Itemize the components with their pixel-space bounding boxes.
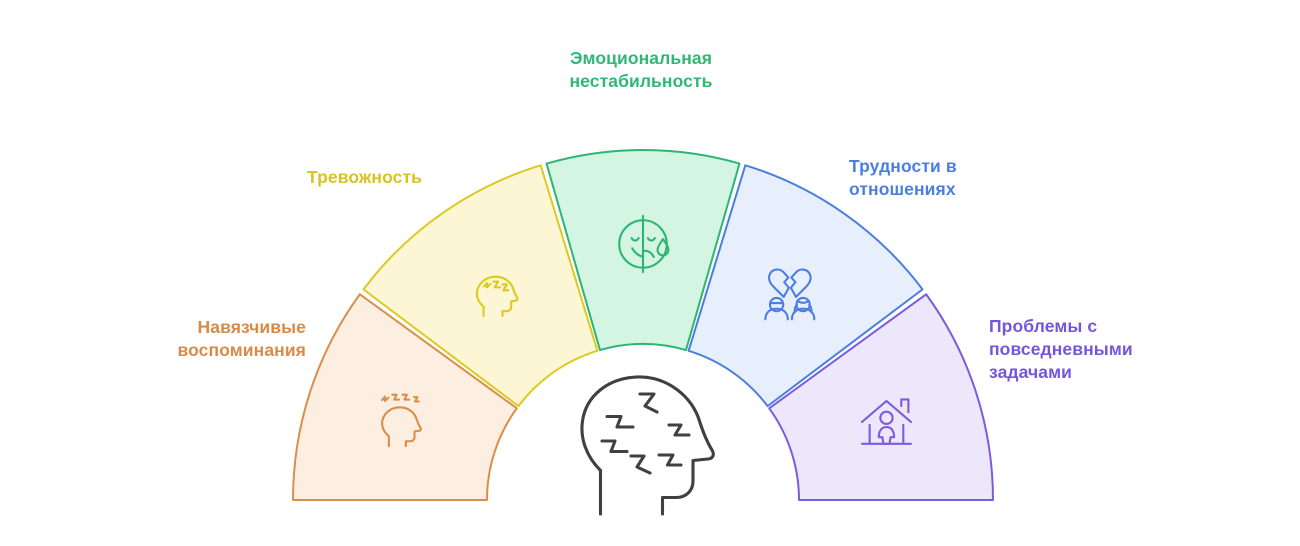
segment-label-emotional-instability: Эмоциональная нестабильность	[523, 47, 759, 93]
segment-label-daily-task-problems: Проблемы с повседневными задачами	[989, 315, 1239, 384]
segment-label-intrusive-memories: Навязчивые воспоминания	[78, 316, 306, 362]
segment-label-anxiety: Тревожность	[168, 166, 422, 189]
infographic-canvas: Навязчивые воспоминания Тревожность Эмоц…	[0, 0, 1300, 546]
stressed-head-icon	[582, 377, 713, 514]
segment-label-relationship-difficulties: Трудности в отношениях	[849, 155, 1079, 201]
segments-group	[293, 150, 993, 500]
